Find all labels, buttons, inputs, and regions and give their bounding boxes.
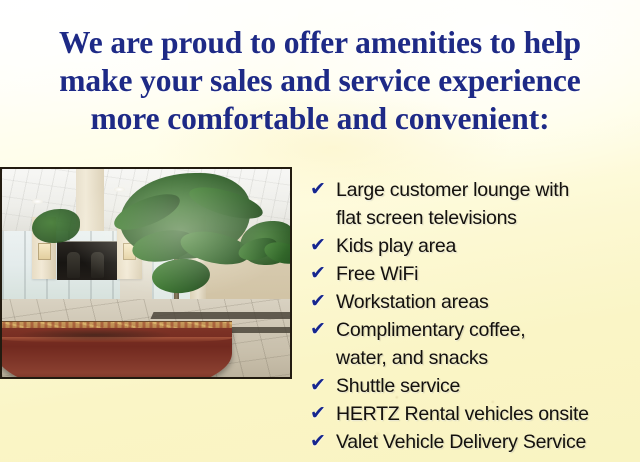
list-item: ✔ Free WiFi (310, 260, 640, 288)
lobby-photo-content (2, 169, 290, 377)
photo-desk-shadow (20, 329, 170, 341)
check-icon: ✔ (310, 372, 336, 400)
list-item-label: Large customer lounge with flat screen t… (336, 176, 640, 232)
list-item-label: Valet Vehicle Delivery Service (336, 428, 640, 456)
list-item: ✔ Workstation areas (310, 288, 640, 316)
list-item: ✔ Complimentary coffee, water, and snack… (310, 316, 640, 372)
photo-ceiling-light (32, 199, 43, 204)
check-icon: ✔ (310, 316, 336, 344)
list-item: ✔ Kids play area (310, 232, 640, 260)
amenities-list: ✔ Large customer lounge with flat screen… (310, 176, 640, 456)
check-icon: ✔ (310, 428, 336, 456)
list-item-label: Kids play area (336, 232, 640, 260)
check-icon: ✔ (310, 176, 336, 204)
page-title: We are proud to offer amenities to help … (0, 24, 640, 138)
photo-vase (91, 252, 104, 278)
photo-floor-accent (150, 312, 290, 319)
title-line-3: more comfortable and convenient: (0, 100, 640, 138)
list-item-label: Complimentary coffee, water, and snacks (336, 316, 640, 372)
list-item-label: Shuttle service (336, 372, 640, 400)
list-item: ✔ Shuttle service (310, 372, 640, 400)
photo-ceiling-light (114, 187, 125, 192)
list-item-label: Free WiFi (336, 260, 640, 288)
list-item-label: Workstation areas (336, 288, 640, 316)
list-item-label: HERTZ Rental vehicles onsite (336, 400, 640, 428)
title-line-1: We are proud to offer amenities to help (0, 24, 640, 62)
list-item: ✔ Large customer lounge with flat screen… (310, 176, 640, 232)
slide-canvas: We are proud to offer amenities to help … (0, 0, 640, 462)
check-icon: ✔ (310, 400, 336, 428)
photo-column-main (76, 169, 104, 231)
list-item: ✔ HERTZ Rental vehicles onsite (310, 400, 640, 428)
lobby-photo (0, 167, 292, 379)
photo-wall-sconce (38, 243, 51, 260)
photo-vase (67, 252, 80, 278)
title-line-2: make your sales and service experience (0, 62, 640, 100)
check-icon: ✔ (310, 288, 336, 316)
photo-mirror-alcove (57, 241, 117, 280)
check-icon: ✔ (310, 232, 336, 260)
check-icon: ✔ (310, 260, 336, 288)
list-item: ✔ Valet Vehicle Delivery Service (310, 428, 640, 456)
